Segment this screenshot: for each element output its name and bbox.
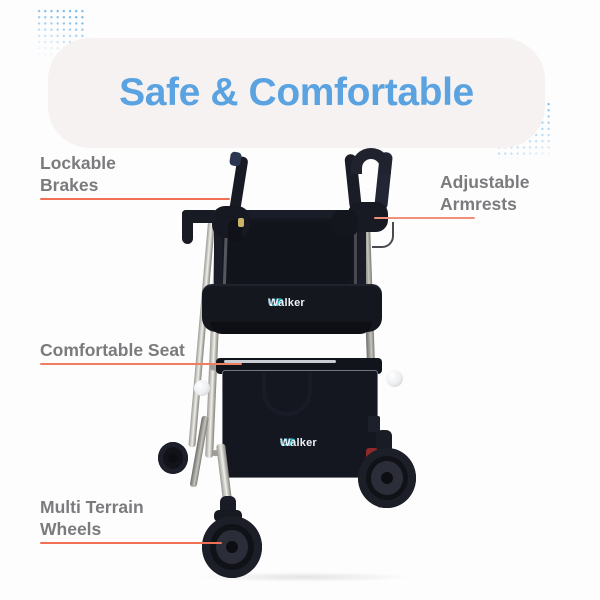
wheel-front-right-hub — [381, 472, 393, 484]
callout-underline-lockable-brakes — [40, 198, 230, 200]
wheel-rear-left-hub — [168, 453, 178, 463]
callout-label-adjustable-armrests: Adjustable Armrests — [440, 171, 529, 215]
page-title: Safe & Comfortable — [48, 38, 545, 148]
callout-label-multi-terrain-wheels: Multi Terrain Wheels — [40, 496, 144, 540]
adjustment-screw-left — [238, 218, 244, 227]
callout-underline-adjustable-armrests — [374, 217, 440, 219]
brand-registered-mark-bag: ® — [280, 438, 285, 449]
seat-underside — [210, 322, 372, 334]
armrest-mount-right — [332, 210, 358, 236]
wheel-front-left-hub — [226, 541, 238, 553]
callout-label-comfortable-seat: Comfortable Seat — [40, 339, 185, 361]
callout-adjustable-armrests: Adjustable Armrests — [440, 171, 529, 215]
frame-end-cap-left — [194, 380, 210, 396]
brand-walker-text-bag: Walker — [280, 438, 317, 449]
callout-multi-terrain-wheels: Multi Terrain Wheels — [40, 496, 144, 540]
callout-lockable-brakes: Lockable Brakes — [40, 152, 116, 196]
feature-infographic: Safe & Comfortable UP — [0, 0, 600, 600]
callout-label-lockable-brakes: Lockable Brakes — [40, 152, 116, 196]
callout-underline-comfortable-seat — [40, 363, 242, 365]
brake-cable-right — [372, 222, 394, 248]
callout-underline-multi-terrain-wheels — [40, 542, 222, 544]
brand-registered-mark: ® — [268, 298, 273, 309]
storage-bag-tab — [368, 416, 380, 432]
armrest-support-left-arm — [182, 210, 193, 244]
product-shadow — [200, 572, 410, 582]
callout-comfortable-seat: Comfortable Seat — [40, 339, 185, 361]
frame-end-cap-right — [386, 370, 403, 387]
brand-walker-text: Walker — [268, 298, 305, 309]
